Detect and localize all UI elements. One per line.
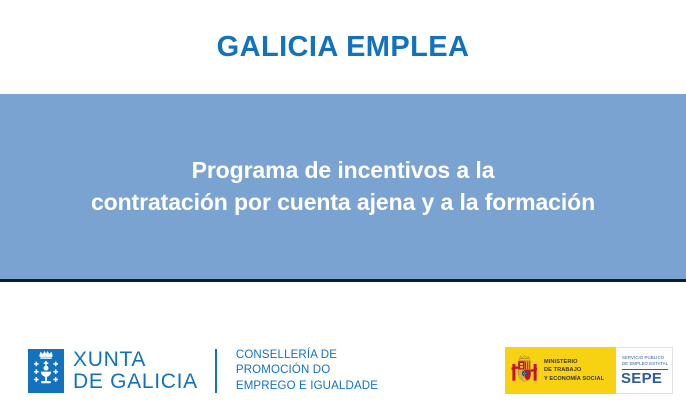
ministerio-line-3: Y ECONOMÍA SOCIAL <box>544 375 604 383</box>
title-zone: GALICIA EMPLEA <box>0 0 686 94</box>
sepe-full-name: SERVICIO PÚBLICO DE EMPLEO ESTATAL <box>619 355 670 367</box>
ministerio-line-2: DE TRABAJO <box>544 366 604 374</box>
conselleria-line-1: CONSELLERÍA DE <box>236 348 378 363</box>
sepe-block: SERVICIO PÚBLICO DE EMPLEO ESTATAL SEPE <box>616 347 673 394</box>
xunta-wordmark-line-2: DE GALICIA <box>73 371 198 393</box>
logo-divider <box>215 349 217 393</box>
ministerio-line-1: MINISTERIO <box>544 358 604 366</box>
subtitle-line-1: Programa de incentivos a la <box>91 155 595 186</box>
xunta-wordmark-line-1: XUNTA <box>73 349 198 371</box>
galicia-coat-of-arms-icon <box>28 349 64 393</box>
presentation-slide: GALICIA EMPLEA Programa de incentivos a … <box>0 0 686 410</box>
subtitle-text: Programa de incentivos a la contratación… <box>77 155 609 217</box>
sepe-acronym: SEPE <box>619 371 662 386</box>
ministerio-sepe-logo: MINISTERIO DE TRABAJO Y ECONOMÍA SOCIAL … <box>505 347 673 394</box>
xunta-wordmark: XUNTA DE GALICIA <box>73 349 198 393</box>
subtitle-band: Programa de incentivos a la contratación… <box>0 94 686 282</box>
spain-coat-of-arms-icon <box>511 354 538 388</box>
sepe-name-line-2: DE EMPLEO ESTATAL <box>622 361 670 367</box>
page-title: GALICIA EMPLEA <box>217 33 470 62</box>
footer-logos: XUNTA DE GALICIA CONSELLERÍA DE PROMOCIÓ… <box>0 285 686 410</box>
conselleria-line-3: EMPREGO E IGUALDADE <box>236 379 378 394</box>
ministerio-block: MINISTERIO DE TRABAJO Y ECONOMÍA SOCIAL <box>505 347 616 394</box>
ministerio-name: MINISTERIO DE TRABAJO Y ECONOMÍA SOCIAL <box>544 358 604 382</box>
xunta-de-galicia-logo: XUNTA DE GALICIA CONSELLERÍA DE PROMOCIÓ… <box>28 348 378 394</box>
subtitle-line-2: contratación por cuenta ajena y a la for… <box>91 187 595 218</box>
conselleria-line-2: PROMOCIÓN DO <box>236 363 378 378</box>
conselleria-name: CONSELLERÍA DE PROMOCIÓN DO EMPREGO E IG… <box>236 348 378 394</box>
